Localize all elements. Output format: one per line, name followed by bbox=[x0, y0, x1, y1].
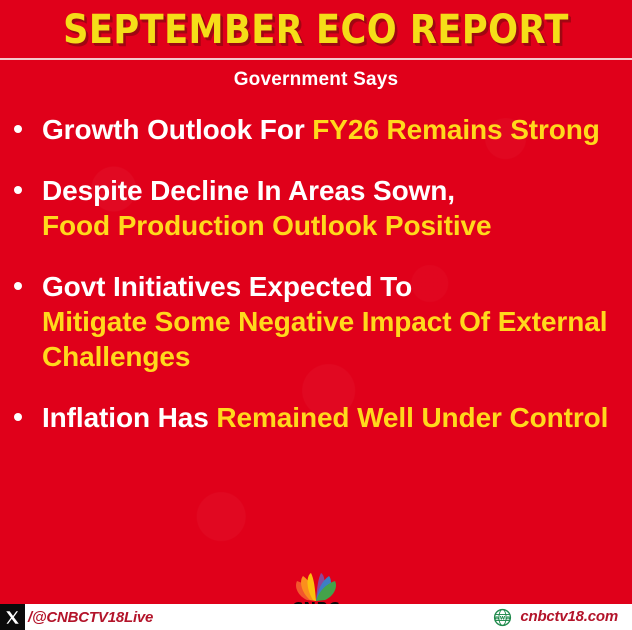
bullet-dot-icon bbox=[14, 112, 42, 133]
bullet-text: Govt Initiatives Expected ToMitigate Som… bbox=[42, 269, 618, 374]
bullet-dot-icon bbox=[14, 269, 42, 290]
bullet-list: Growth Outlook For FY26 Remains Strong D… bbox=[14, 112, 618, 461]
nbc-peacock-icon bbox=[288, 572, 344, 602]
globe-www-icon: www bbox=[493, 608, 512, 627]
x-logo-glyph bbox=[5, 610, 20, 625]
bullet-highlight-text: Food Production Outlook Positive bbox=[42, 210, 491, 241]
bullet-plain-text: Govt Initiatives Expected To bbox=[42, 271, 412, 302]
header-divider bbox=[0, 58, 632, 60]
bullet-plain-text: Despite Decline In Areas Sown, bbox=[42, 175, 455, 206]
bullet-text: Growth Outlook For FY26 Remains Strong bbox=[42, 112, 618, 147]
bullet-text: Inflation Has Remained Well Under Contro… bbox=[42, 400, 618, 435]
list-item: Inflation Has Remained Well Under Contro… bbox=[14, 400, 618, 435]
bullet-plain-text: Growth Outlook For bbox=[42, 114, 312, 145]
list-item: Growth Outlook For FY26 Remains Strong bbox=[14, 112, 618, 147]
bullet-dot-icon bbox=[14, 400, 42, 421]
eco-report-card: SEPTEMBER ECO REPORT Government Says Gro… bbox=[0, 0, 632, 630]
header-subtitle: Government Says bbox=[0, 68, 632, 92]
x-twitter-icon[interactable] bbox=[0, 604, 25, 630]
bullet-highlight-text: Remained Well Under Control bbox=[216, 402, 608, 433]
list-item: Despite Decline In Areas Sown,Food Produ… bbox=[14, 173, 618, 243]
page-title: SEPTEMBER ECO REPORT bbox=[38, 8, 594, 52]
bullet-text: Despite Decline In Areas Sown,Food Produ… bbox=[42, 173, 618, 243]
bullet-dot-icon bbox=[14, 173, 42, 194]
bullet-highlight-text: FY26 Remains Strong bbox=[312, 114, 600, 145]
x-handle-text[interactable]: /@CNBCTV18Live bbox=[28, 608, 153, 627]
website-link[interactable]: www cnbctv18.com bbox=[493, 607, 618, 627]
footer-bar: /@CNBCTV18Live www cnbctv18.com bbox=[0, 604, 632, 630]
bullet-plain-text: Inflation Has bbox=[42, 402, 216, 433]
list-item: Govt Initiatives Expected ToMitigate Som… bbox=[14, 269, 618, 374]
svg-text:www: www bbox=[495, 614, 512, 621]
site-url-text[interactable]: cnbctv18.com bbox=[520, 607, 618, 627]
bullet-highlight-text: Mitigate Some Negative Impact Of Externa… bbox=[42, 306, 607, 372]
